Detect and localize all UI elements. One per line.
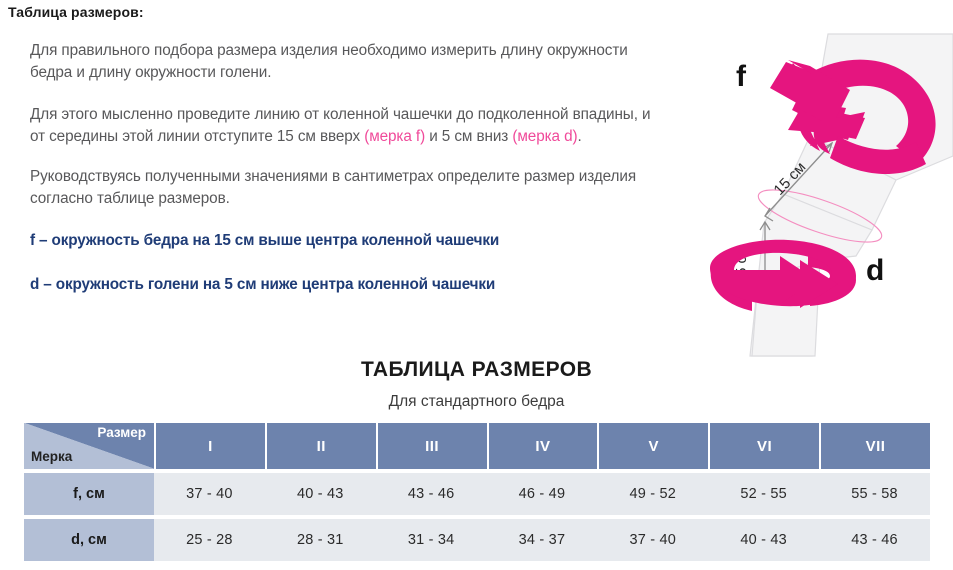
cell-d-3: 31 - 34 [376, 519, 487, 561]
size-table-subtitle: Для стандартного бедра [0, 393, 953, 411]
size-column-header-7: VII [819, 423, 930, 469]
leg-measurement-diagram: 15 см 5 см f [660, 18, 953, 358]
instruction-paragraph-2-tail: . [578, 128, 582, 145]
label-d: d [866, 254, 884, 287]
size-table: Размер Мерка I II III IV V VI VII f, см … [24, 423, 930, 561]
size-table-body: f, см 37 - 40 40 - 43 43 - 46 46 - 49 49… [24, 469, 930, 561]
instruction-paragraph-3: Руководствуясь полученными значениями в … [30, 166, 660, 210]
cell-f-1: 37 - 40 [154, 473, 265, 515]
table-row: d, см 25 - 28 28 - 31 31 - 34 34 - 37 37… [24, 519, 930, 561]
instructions-block: Для правильного подбора размера изделия … [30, 40, 660, 318]
calf-circumference-arrow [710, 240, 856, 311]
table-row: f, см 37 - 40 40 - 43 43 - 46 46 - 49 49… [24, 473, 930, 515]
cell-d-5: 37 - 40 [597, 519, 708, 561]
legend-letter-d: d [30, 276, 39, 293]
cell-d-6: 40 - 43 [708, 519, 819, 561]
cell-f-6: 52 - 55 [708, 473, 819, 515]
cell-d-7: 43 - 46 [819, 519, 930, 561]
measure-d-highlight: (мерка d) [512, 128, 577, 145]
size-column-header-4: IV [487, 423, 598, 469]
cell-d-4: 34 - 37 [487, 519, 598, 561]
legend-text-f: окружность бедра на 15 см выше центра ко… [52, 232, 500, 249]
row-header-f: f, см [24, 473, 154, 515]
size-table-title: ТАБЛИЦА РАЗМЕРОВ [0, 358, 953, 382]
cell-f-5: 49 - 52 [597, 473, 708, 515]
instruction-paragraph-1: Для правильного подбора размера изделия … [30, 40, 660, 84]
measure-f-highlight: (мерка f) [364, 128, 425, 145]
size-column-header-3: III [376, 423, 487, 469]
instruction-paragraph-2: Для этого мысленно проведите линию от ко… [30, 104, 660, 148]
instruction-paragraph-2-mid: и 5 см вниз [425, 128, 512, 145]
legend-dash-d: – [39, 276, 56, 293]
cell-d-1: 25 - 28 [154, 519, 265, 561]
page-title: Таблица размеров: [8, 4, 144, 20]
cell-f-3: 43 - 46 [376, 473, 487, 515]
table-corner-cell: Размер Мерка [24, 423, 154, 469]
label-f: f [736, 60, 747, 93]
cell-f-4: 46 - 49 [487, 473, 598, 515]
corner-size-label: Размер [97, 425, 146, 440]
legend-text-d: окружность голени на 5 см ниже центра ко… [56, 276, 495, 293]
thigh-circumference-arrow [770, 60, 936, 174]
size-table-header-row: Размер Мерка I II III IV V VI VII [24, 423, 930, 469]
legend-line-d: d – окружность голени на 5 см ниже центр… [30, 274, 660, 296]
size-column-header-5: V [597, 423, 708, 469]
size-column-header-6: VI [708, 423, 819, 469]
cell-f-2: 40 - 43 [265, 473, 376, 515]
size-column-header-2: II [265, 423, 376, 469]
size-table-head: Размер Мерка I II III IV V VI VII [24, 423, 930, 469]
cell-d-2: 28 - 31 [265, 519, 376, 561]
corner-measure-label: Мерка [31, 449, 72, 464]
size-column-header-1: I [154, 423, 265, 469]
row-header-d: d, см [24, 519, 154, 561]
legend-line-f: f – окружность бедра на 15 см выше центр… [30, 230, 660, 252]
cell-f-7: 55 - 58 [819, 473, 930, 515]
legend-dash-f: – [35, 232, 52, 249]
